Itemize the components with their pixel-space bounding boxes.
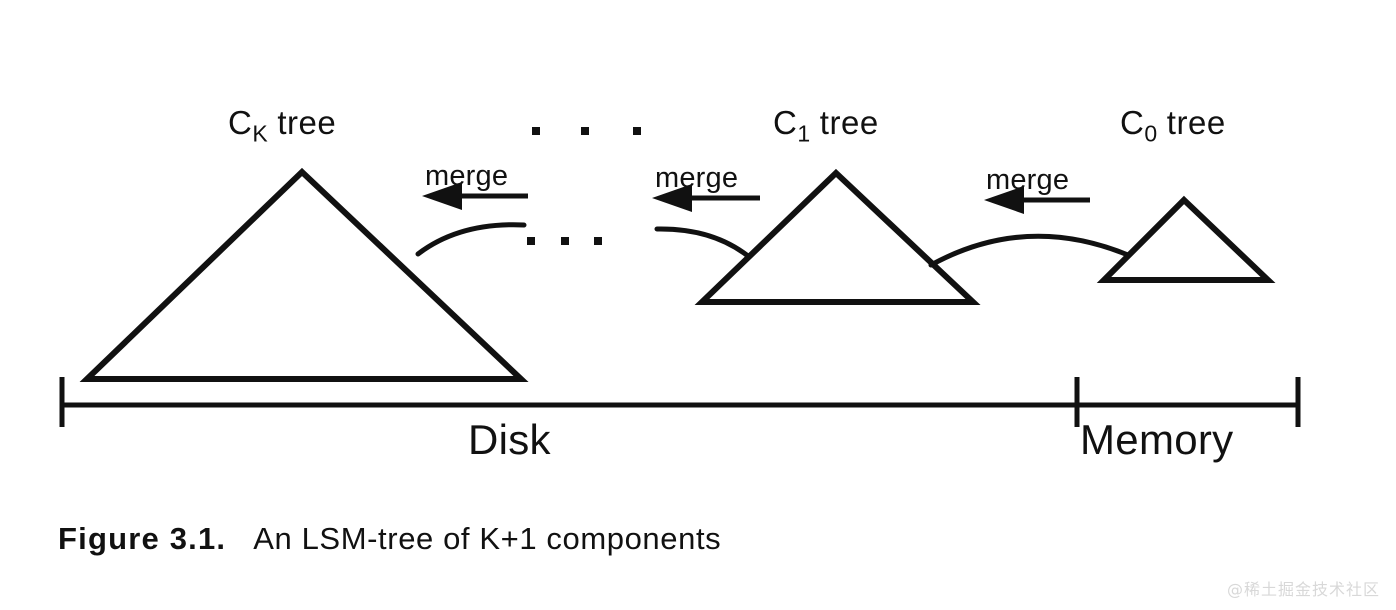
top-ellipsis-dot-3 <box>633 127 641 135</box>
c1-tree-label-subscript: 1 <box>797 121 810 147</box>
c0-tree-label: C0 tree <box>1120 104 1226 148</box>
c0-tree-label-subscript: 0 <box>1144 121 1157 147</box>
top-ellipsis-dot-2 <box>581 127 589 135</box>
merge-curve-c1-left <box>657 229 748 256</box>
top-ellipsis-dot-1 <box>532 127 540 135</box>
c0-tree-label-suffix: tree <box>1157 104 1226 141</box>
merge-label-2: merge <box>655 162 738 195</box>
site-watermark: @稀土掘金技术社区 <box>1227 576 1380 600</box>
figure-caption-prefix: Figure 3.1. <box>58 521 226 556</box>
merge-label-1: merge <box>425 160 508 193</box>
mid-ellipsis-dot-1 <box>527 237 535 245</box>
ck-tree-label-subscript: K <box>252 121 267 147</box>
ck-tree-label-prefix: C <box>228 104 252 141</box>
merge-label-3: merge <box>986 164 1069 197</box>
c1-tree-label-suffix: tree <box>810 104 879 141</box>
figure-caption-text: An LSM-tree of K+1 components <box>253 521 721 556</box>
c1-tree-label-prefix: C <box>773 104 797 141</box>
c0-tree-label-prefix: C <box>1120 104 1144 141</box>
mid-ellipsis-dot-2 <box>561 237 569 245</box>
c1-tree-triangle <box>702 173 973 302</box>
diagram-canvas <box>0 0 1396 610</box>
memory-label: Memory <box>1080 416 1233 464</box>
merge-curve-ck <box>418 225 524 254</box>
disk-label: Disk <box>468 416 551 464</box>
lsm-tree-figure: CK tree C1 tree C0 tree merge merge merg… <box>0 0 1396 610</box>
merge-curve-c1-c0 <box>931 236 1128 265</box>
c0-tree-triangle <box>1104 200 1268 280</box>
mid-ellipsis-dot-3 <box>594 237 602 245</box>
c1-tree-label: C1 tree <box>773 104 879 148</box>
ck-tree-label: CK tree <box>228 104 336 148</box>
ck-tree-label-suffix: tree <box>268 104 337 141</box>
figure-caption: Figure 3.1. An LSM-tree of K+1 component… <box>58 521 721 557</box>
